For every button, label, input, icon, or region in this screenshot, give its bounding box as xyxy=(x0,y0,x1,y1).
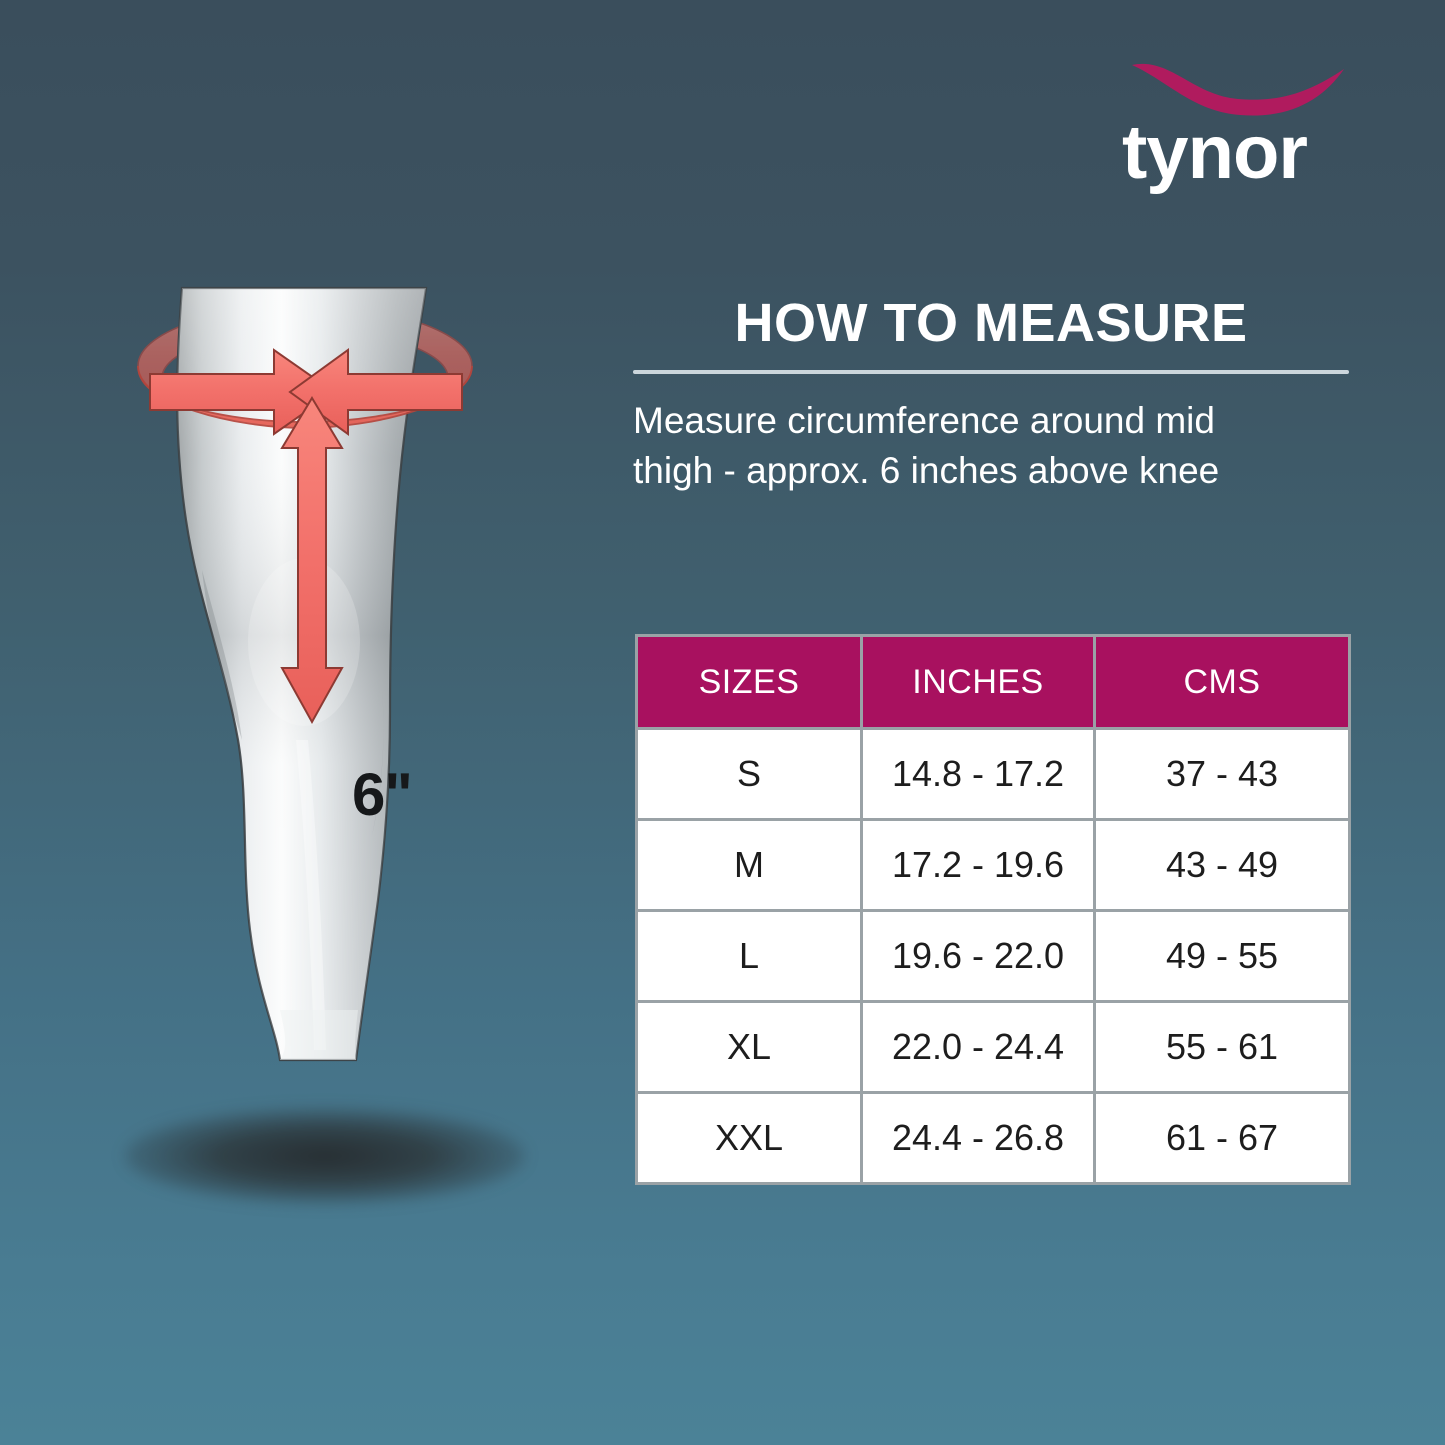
column-header-cms: CMS xyxy=(1095,636,1350,729)
cell-size: S xyxy=(637,729,862,820)
cell-size: XXL xyxy=(637,1093,862,1184)
table-row: XL 22.0 - 24.4 55 - 61 xyxy=(637,1002,1350,1093)
cell-inches: 14.8 - 17.2 xyxy=(862,729,1095,820)
cell-inches: 17.2 - 19.6 xyxy=(862,820,1095,911)
table-row: XXL 24.4 - 26.8 61 - 67 xyxy=(637,1093,1350,1184)
cell-cms: 43 - 49 xyxy=(1095,820,1350,911)
title-divider xyxy=(633,370,1349,374)
page-title: HOW TO MEASURE xyxy=(633,292,1349,354)
cell-cms: 55 - 61 xyxy=(1095,1002,1350,1093)
logo-wordmark: tynor xyxy=(1122,113,1358,193)
table-row: L 19.6 - 22.0 49 - 55 xyxy=(637,911,1350,1002)
cell-inches: 24.4 - 26.8 xyxy=(862,1093,1095,1184)
cell-size: L xyxy=(637,911,862,1002)
size-table-container: SIZES INCHES CMS S 14.8 - 17.2 37 - 43 M… xyxy=(635,634,1348,1185)
tynor-logo: tynor xyxy=(1118,55,1358,195)
measure-description-line1: Measure circumference around mid xyxy=(633,400,1215,441)
measure-panel: HOW TO MEASURE Measure circumference aro… xyxy=(633,292,1349,496)
cell-cms: 61 - 67 xyxy=(1095,1093,1350,1184)
cell-inches: 22.0 - 24.4 xyxy=(862,1002,1095,1093)
table-header-row: SIZES INCHES CMS xyxy=(637,636,1350,729)
leg-illustration: 6" xyxy=(90,270,560,1220)
cell-size: M xyxy=(637,820,862,911)
cell-cms: 37 - 43 xyxy=(1095,729,1350,820)
leg-diagram-icon xyxy=(90,270,560,1220)
column-header-inches: INCHES xyxy=(862,636,1095,729)
table-row: M 17.2 - 19.6 43 - 49 xyxy=(637,820,1350,911)
cell-size: XL xyxy=(637,1002,862,1093)
table-row: S 14.8 - 17.2 37 - 43 xyxy=(637,729,1350,820)
size-table: SIZES INCHES CMS S 14.8 - 17.2 37 - 43 M… xyxy=(635,634,1351,1185)
cell-inches: 19.6 - 22.0 xyxy=(862,911,1095,1002)
measure-description-line2: thigh - approx. 6 inches above knee xyxy=(633,446,1349,496)
cell-cms: 49 - 55 xyxy=(1095,911,1350,1002)
size-chart-page: tynor HOW TO MEASURE Measure circumferen… xyxy=(0,0,1445,1445)
measure-description: Measure circumference around mid thigh -… xyxy=(633,396,1349,496)
column-header-sizes: SIZES xyxy=(637,636,862,729)
measure-distance-label: 6" xyxy=(352,765,412,825)
